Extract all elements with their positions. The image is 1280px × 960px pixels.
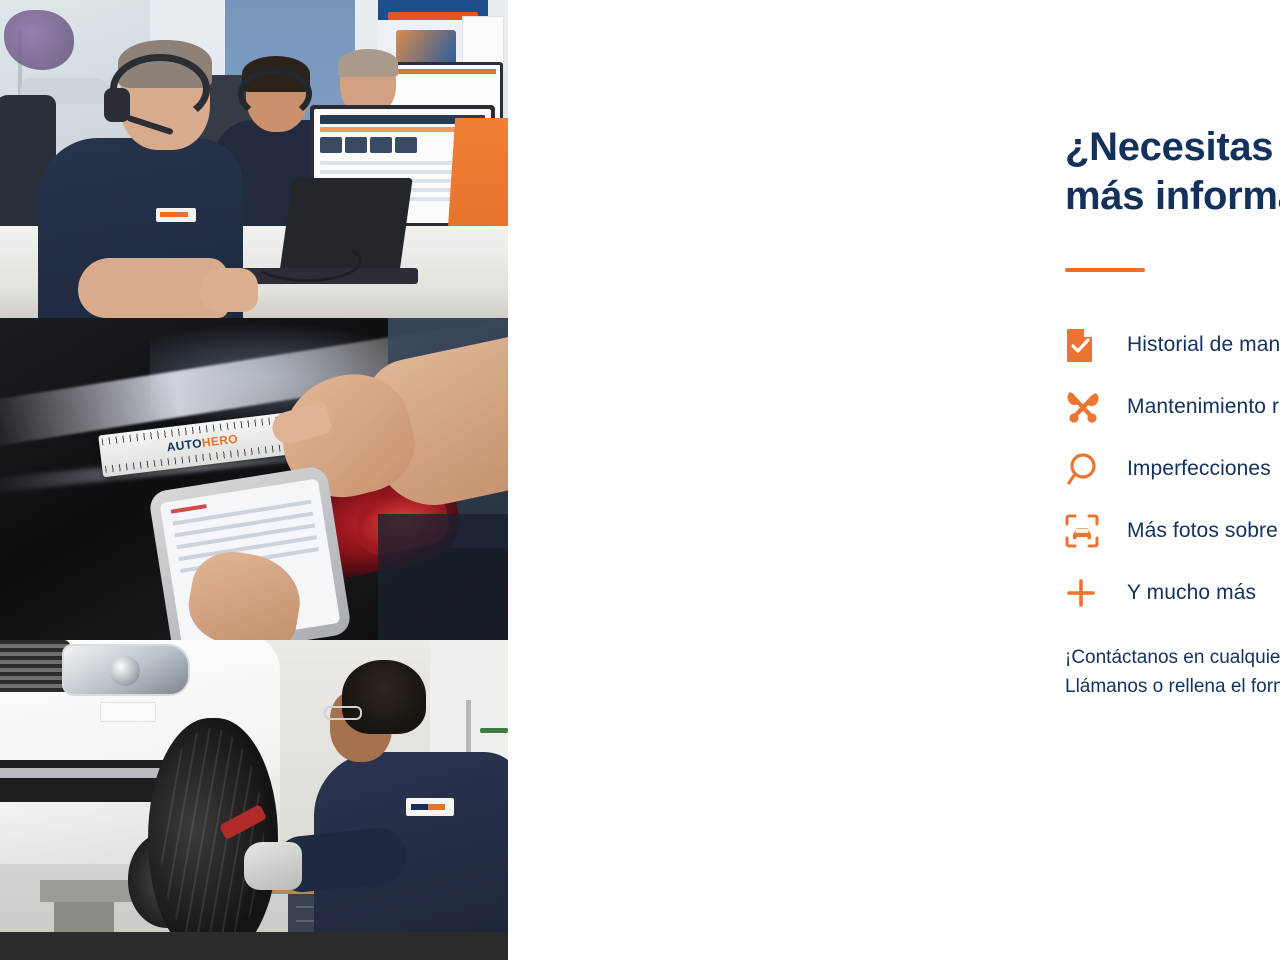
workshop-floor bbox=[0, 932, 508, 960]
feature-item-imperfecciones: Imperfecciones bbox=[1065, 438, 1280, 500]
license-plate-area bbox=[100, 702, 156, 722]
tools-icon bbox=[1065, 389, 1115, 425]
call-center-agents-photo bbox=[0, 0, 508, 318]
headlight bbox=[62, 644, 190, 696]
car-inspection-ruler-photo: AUTOHERO bbox=[0, 318, 508, 640]
background-blur-lower bbox=[378, 514, 508, 640]
contact-line-2: Llámanos o rellena el formulario de cont… bbox=[1065, 672, 1280, 701]
accent-rule bbox=[1065, 268, 1145, 272]
photo-column: AUTOHERO bbox=[0, 0, 508, 960]
feature-item-fotos: Más fotos sobre el coche bbox=[1065, 500, 1280, 562]
feature-label: Y mucho más bbox=[1115, 581, 1256, 605]
page-title-line-1: ¿Necesitas bbox=[1065, 125, 1273, 169]
page-title-line-2: más información? bbox=[1065, 172, 1280, 221]
car-scan-icon bbox=[1065, 514, 1115, 548]
feature-label: Mantenimiento realizado bbox=[1115, 395, 1280, 419]
content-panel: ¿Necesitas más información? Estamos bbox=[508, 0, 1280, 960]
car-grille bbox=[0, 640, 70, 692]
magnifier-icon bbox=[1065, 452, 1115, 486]
contact-text: ¡Contáctanos en cualquier momento para m… bbox=[1065, 643, 1280, 702]
tyre-tread bbox=[160, 728, 264, 950]
feature-label: Historial de mantenimientos bbox=[1115, 333, 1280, 357]
feature-label: Imperfecciones bbox=[1115, 457, 1271, 481]
feature-item-historial: Historial de mantenimientos bbox=[1065, 314, 1280, 376]
workshop-wheel-photo bbox=[0, 640, 508, 960]
promo-banner: AUTOHERO bbox=[0, 0, 1280, 960]
feature-item-mantenimiento: Mantenimiento realizado bbox=[1065, 376, 1280, 438]
contact-line-1: ¡Contáctanos en cualquier momento para m… bbox=[1065, 643, 1280, 672]
bumper-chrome-trim bbox=[0, 768, 180, 778]
feature-list: Historial de mantenimientos M bbox=[1065, 314, 1280, 624]
technician bbox=[322, 656, 508, 960]
document-check-icon bbox=[1065, 328, 1115, 362]
feature-label: Más fotos sobre el coche bbox=[1115, 519, 1280, 543]
feature-item-mucho-mas: Y mucho más bbox=[1065, 562, 1280, 624]
agent-one bbox=[38, 40, 248, 318]
plus-icon bbox=[1065, 577, 1115, 609]
cable bbox=[252, 240, 362, 282]
page-title: ¿Necesitas más información? bbox=[1065, 123, 1280, 221]
